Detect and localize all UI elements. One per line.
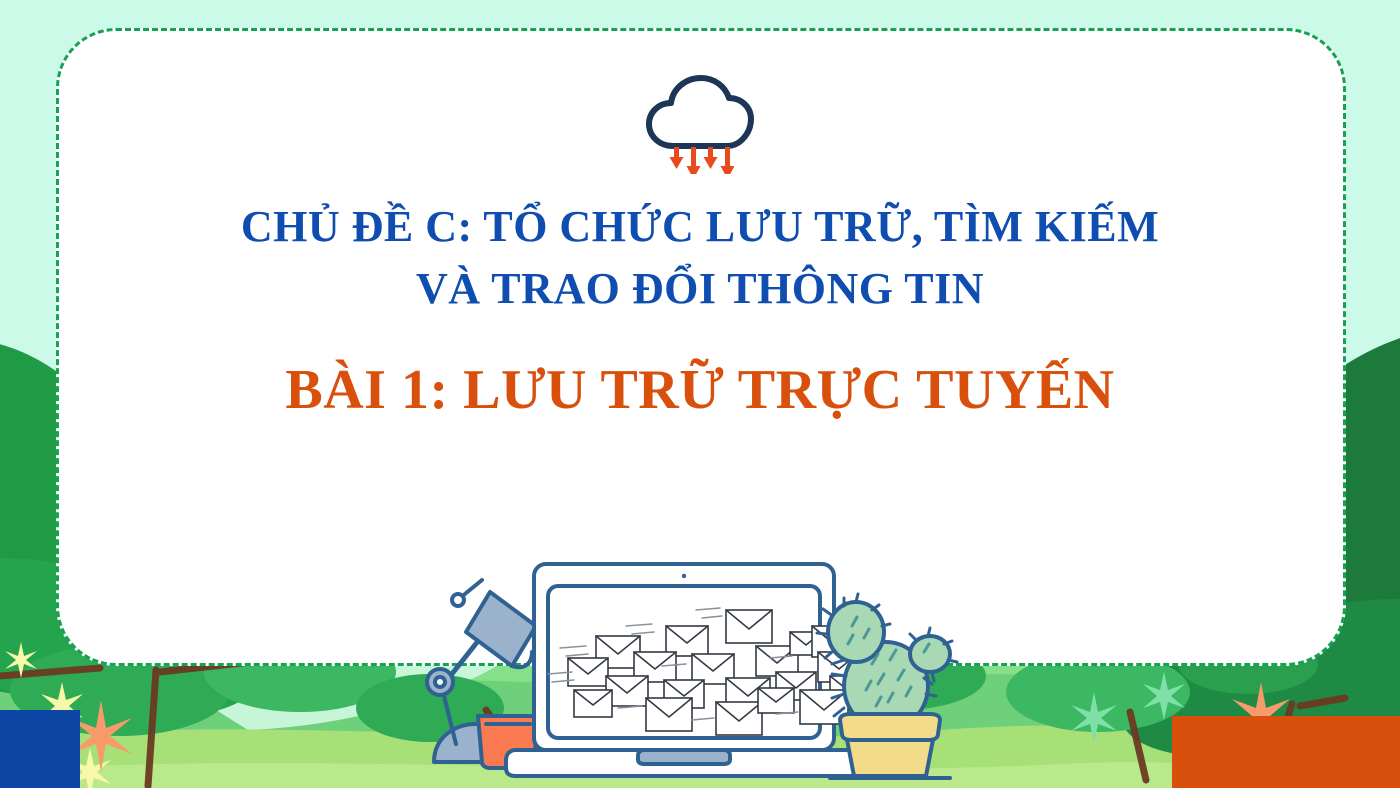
title-block: CHỦ ĐỀ C: TỔ CHỨC LƯU TRỮ, TÌM KIẾM VÀ T… [0, 196, 1400, 424]
slide-root: CHỦ ĐỀ C: TỔ CHỨC LƯU TRỮ, TÌM KIẾM VÀ T… [0, 0, 1400, 788]
page-title-main: CHỦ ĐỀ C: TỔ CHỨC LƯU TRỮ, TÌM KIẾM VÀ T… [0, 196, 1400, 321]
desk-illustration [420, 548, 980, 788]
corner-accent-blue [0, 710, 80, 788]
page-title-sub: BÀI 1: LƯU TRỮ TRỰC TUYẾN [0, 357, 1400, 424]
laptop-icon [506, 564, 862, 776]
page-title-line2: VÀ TRAO ĐỔI THÔNG TIN [80, 258, 1320, 320]
page-title-line1: CHỦ ĐỀ C: TỔ CHỨC LƯU TRỮ, TÌM KIẾM [80, 196, 1320, 258]
cloud-download-icon [635, 74, 765, 174]
corner-accent-orange [1172, 716, 1400, 788]
